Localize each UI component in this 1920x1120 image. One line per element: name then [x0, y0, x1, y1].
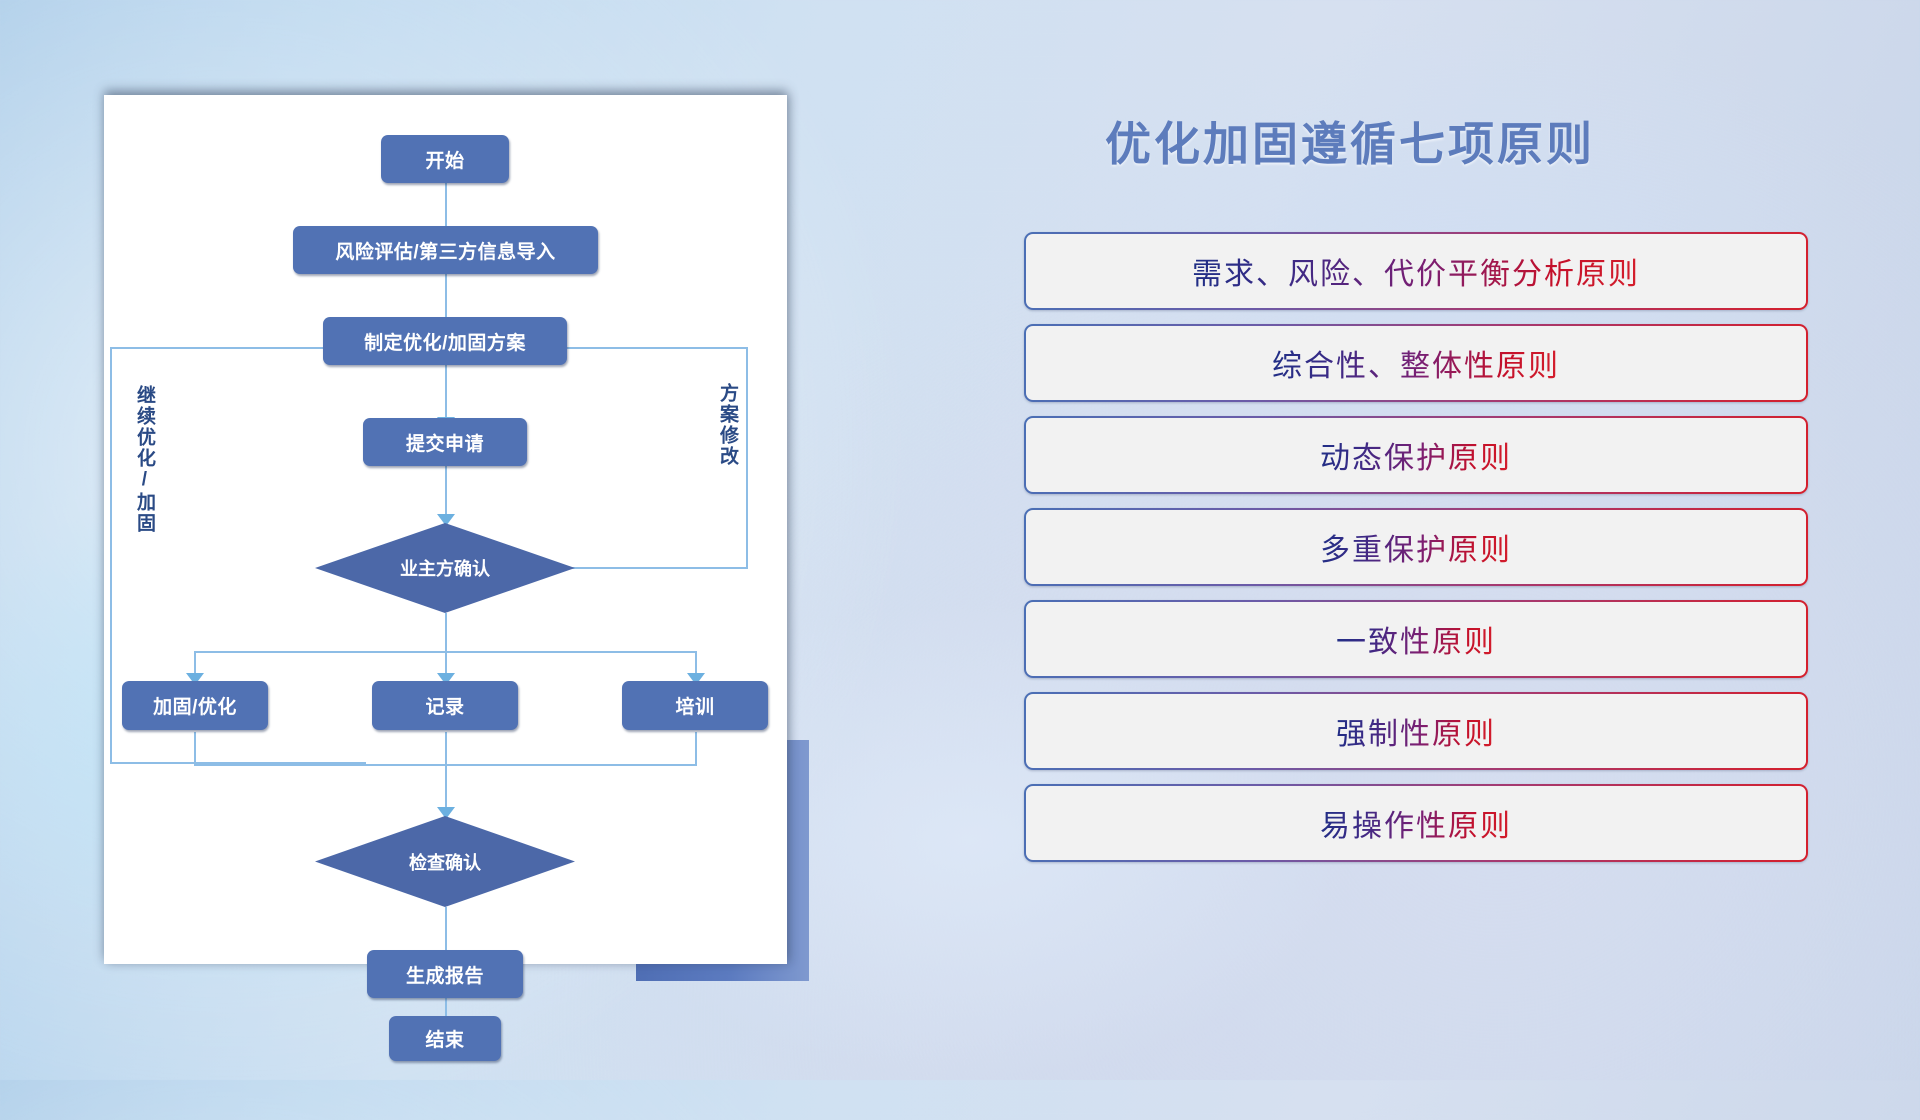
principle-item-inner: 多重保护原则 [1026, 510, 1806, 584]
principle-label: 多重保护原则 [1320, 525, 1512, 569]
edge-reinf-merge [194, 732, 196, 766]
principle-label: 易操作性原则 [1320, 801, 1512, 845]
edge-train-merge [695, 732, 697, 766]
flow-node-risk-assessment[interactable]: 风险评估/第三方信息导入 [293, 226, 598, 274]
principle-label: 强制性原则 [1336, 709, 1496, 753]
principle-item[interactable]: 动态保护原则 [1024, 416, 1808, 494]
flow-node-owner-confirm-label: 业主方确认 [400, 555, 490, 581]
principle-item[interactable]: 需求、风险、代价平衡分析原则 [1024, 232, 1808, 310]
principle-list: 需求、风险、代价平衡分析原则 综合性、整体性原则 动态保护原则 多重保护原则 一… [1024, 232, 1808, 876]
principle-label: 需求、风险、代价平衡分析原则 [1192, 249, 1640, 293]
principle-item[interactable]: 强制性原则 [1024, 692, 1808, 770]
edge-loop-right-vert [746, 347, 748, 569]
flowchart-card: 继续优化/加固 方案修改 开始 风险评估/第三方信息导入 制定优化/加固方案 提… [104, 95, 787, 964]
principle-item-inner: 强制性原则 [1026, 694, 1806, 768]
page-title: 优化加固遵循七项原则 [1000, 108, 1700, 174]
principle-label: 一致性原则 [1336, 617, 1496, 661]
principle-item-inner: 综合性、整体性原则 [1026, 326, 1806, 400]
principle-item[interactable]: 一致性原则 [1024, 600, 1808, 678]
edge-label-continue-optimize: 继续优化/加固 [134, 385, 154, 565]
edge-loop-left-vert [110, 347, 112, 764]
flow-node-start[interactable]: 开始 [381, 135, 509, 183]
principle-item[interactable]: 综合性、整体性原则 [1024, 324, 1808, 402]
flow-node-generate-report[interactable]: 生成报告 [367, 950, 523, 998]
flow-node-reinforce-optimize[interactable]: 加固/优化 [122, 681, 268, 730]
flow-node-owner-confirm[interactable]: 业主方确认 [315, 523, 575, 613]
edge-record-check [445, 732, 447, 814]
flow-node-submit-application[interactable]: 提交申请 [363, 418, 527, 466]
principle-label: 动态保护原则 [1320, 433, 1512, 477]
principle-item[interactable]: 多重保护原则 [1024, 508, 1808, 586]
flow-node-record[interactable]: 记录 [372, 681, 518, 730]
edge-label-plan-revision: 方案修改 [717, 383, 737, 513]
flow-node-end[interactable]: 结束 [389, 1016, 501, 1061]
principle-item-inner: 需求、风险、代价平衡分析原则 [1026, 234, 1806, 308]
principle-item-inner: 易操作性原则 [1026, 786, 1806, 860]
edge-plan-submit [445, 365, 447, 425]
flow-node-training[interactable]: 培训 [622, 681, 768, 730]
principle-item-inner: 动态保护原则 [1026, 418, 1806, 492]
edge-owner-bus [445, 613, 447, 653]
flow-node-make-plan[interactable]: 制定优化/加固方案 [323, 317, 567, 365]
principle-item-inner: 一致性原则 [1026, 602, 1806, 676]
principle-item[interactable]: 易操作性原则 [1024, 784, 1808, 862]
principle-label: 综合性、整体性原则 [1272, 341, 1560, 385]
flow-node-check-confirm[interactable]: 检查确认 [315, 816, 575, 907]
flow-node-check-confirm-label: 检查确认 [409, 849, 481, 875]
